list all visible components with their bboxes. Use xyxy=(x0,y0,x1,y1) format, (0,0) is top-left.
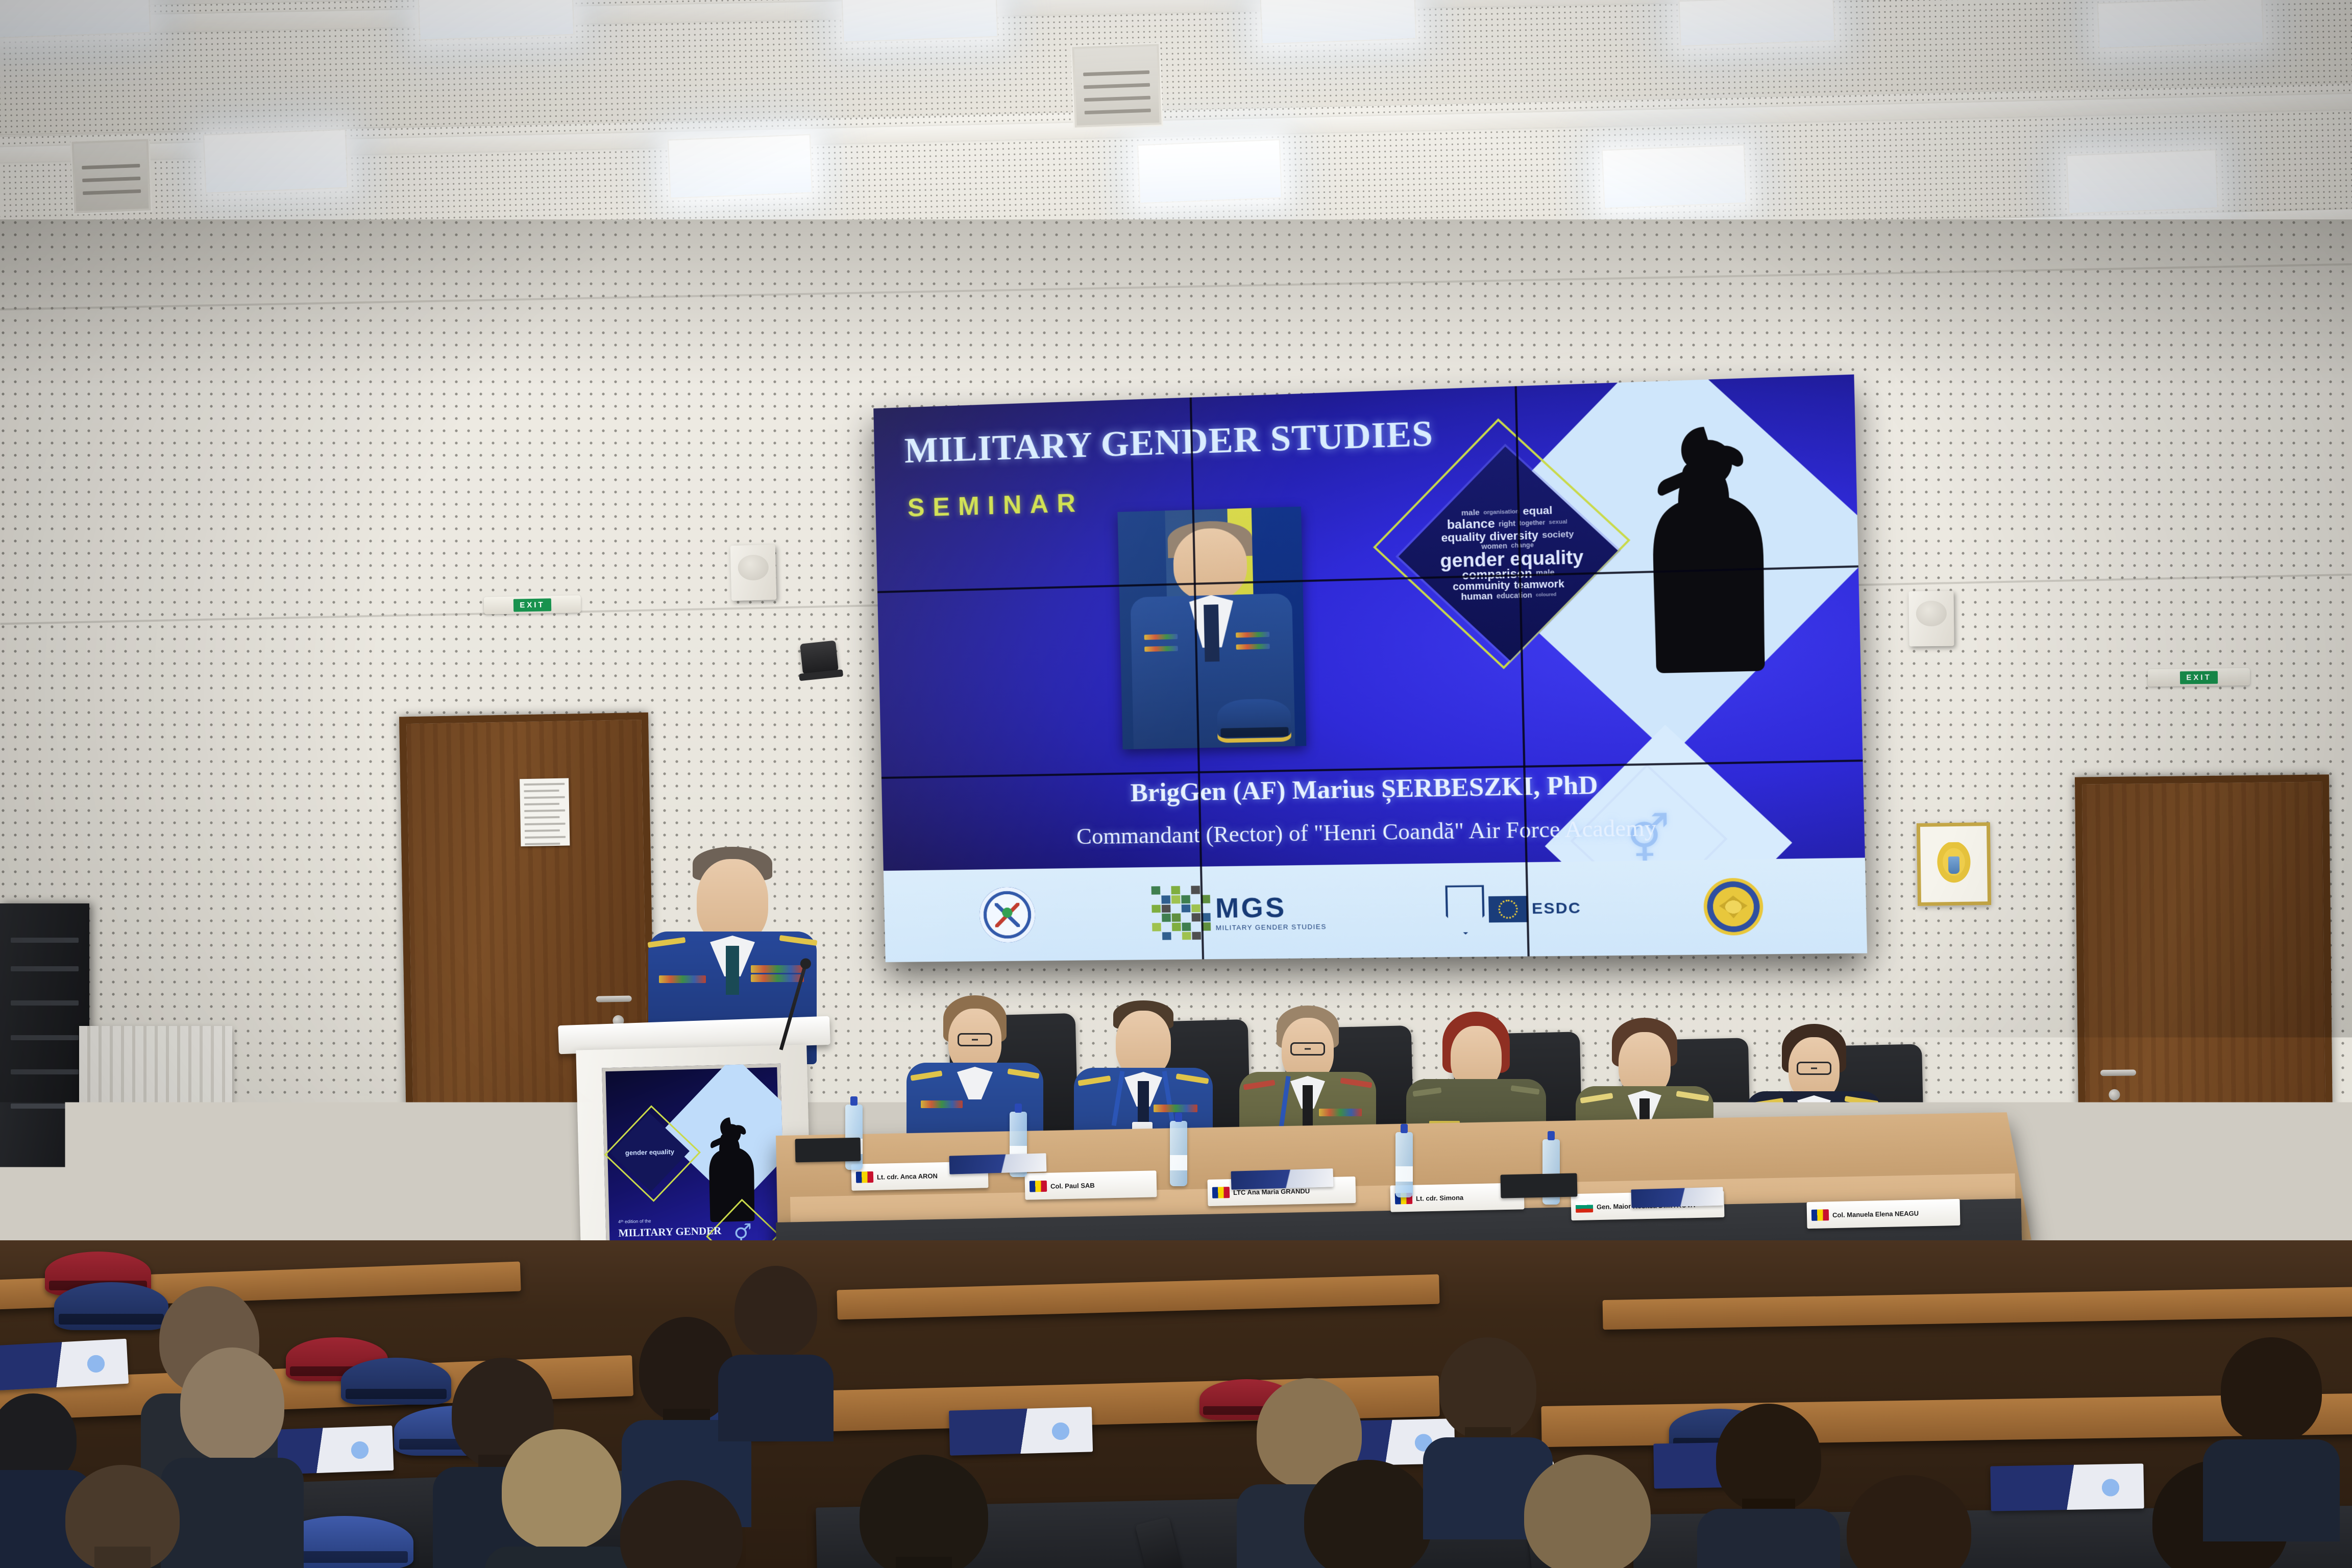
ceiling-light xyxy=(418,0,575,40)
wall-top-shadow xyxy=(0,219,2352,388)
audience-member xyxy=(2210,1337,2333,1521)
word-cloud-word: coloured xyxy=(1536,592,1556,597)
name-placard: Col. Paul SAB xyxy=(1024,1170,1157,1199)
ceiling-light xyxy=(668,134,813,199)
romanian-coat-of-arms-icon xyxy=(1934,842,1974,887)
word-cloud-word: sexual xyxy=(1549,519,1567,525)
placard-name: Lt. cdr. Simona xyxy=(1416,1193,1463,1202)
placard-name: Col. Manuela Elena NEAGU xyxy=(1832,1209,1919,1219)
door-handle-left[interactable] xyxy=(596,995,632,1002)
program-booklet xyxy=(949,1153,1047,1174)
hvac-vent xyxy=(70,137,152,215)
audience-member xyxy=(607,1480,755,1568)
folder xyxy=(795,1138,861,1163)
radiator xyxy=(79,1026,232,1136)
audience-member xyxy=(725,1266,827,1419)
word-cloud-word: right xyxy=(1499,520,1515,527)
portrait-head xyxy=(1173,527,1248,601)
word-cloud-word: diversity xyxy=(1489,530,1538,542)
word-cloud-word: male xyxy=(1461,509,1480,517)
ceiling-light xyxy=(0,0,151,38)
eu-flag-icon xyxy=(1488,896,1528,923)
exit-sign-label: EXIT xyxy=(513,598,551,611)
speaker-portrait xyxy=(1118,506,1307,749)
lectern-edition-label: 4ᵗʰ edition of the xyxy=(618,1218,651,1224)
audience-member xyxy=(1291,1460,1444,1568)
folder xyxy=(1746,1191,1818,1216)
door-notice xyxy=(520,778,570,847)
audience-member xyxy=(1832,1475,1986,1568)
ceiling-light xyxy=(2066,149,2218,214)
word-cloud-word: community xyxy=(1453,580,1510,592)
mgs-logo: MGS MILITARY GENDER STUDIES xyxy=(1151,885,1327,941)
water-bottle xyxy=(1907,1163,1924,1228)
exit-sign-right: EXIT xyxy=(2148,668,2250,687)
word-cloud-word: balance xyxy=(1447,518,1495,531)
seminar-photo-scene: EXIT EXIT male organisation equal balanc… xyxy=(0,0,2352,1568)
ceiling-light xyxy=(1260,0,1417,44)
ceiling-light xyxy=(842,0,998,42)
hvac-vent xyxy=(1070,42,1163,129)
door-lock-right[interactable] xyxy=(2109,1089,2120,1100)
program-booklet xyxy=(1231,1168,1334,1190)
placard-name: Col. Paul SAB xyxy=(1050,1181,1095,1190)
word-cloud-main: gender equality xyxy=(1440,548,1576,569)
word-cloud-word: education xyxy=(1497,592,1532,599)
ceiling-light xyxy=(2097,0,2264,49)
door-right[interactable] xyxy=(2075,774,2334,1271)
word-cloud-word: equality xyxy=(1441,531,1486,543)
word-cloud-word: women xyxy=(1481,542,1507,550)
romania-flag-icon xyxy=(1030,1181,1047,1192)
mgs-sublabel: MILITARY GENDER STUDIES xyxy=(1216,923,1327,932)
presentation-slide: male organisation equal balance right to… xyxy=(873,375,1867,962)
audience-member xyxy=(1705,1404,1832,1568)
ceiling-spotlight xyxy=(800,641,839,675)
folder xyxy=(1501,1173,1578,1198)
program-booklet xyxy=(1990,1463,2144,1511)
placard-name: Lt. cdr. Anca ARON xyxy=(877,1172,938,1181)
romania-flag-icon xyxy=(856,1171,873,1183)
audience-member xyxy=(847,1455,1000,1568)
audience-desk xyxy=(1603,1287,2352,1330)
ceiling-light xyxy=(1679,0,1835,46)
slide-logo-bar: MGS MILITARY GENDER STUDIES ESDC xyxy=(884,857,1867,962)
air-force-academy-seal xyxy=(979,887,1036,943)
audience-area xyxy=(0,1240,2352,1568)
wall-speaker-left xyxy=(730,545,777,601)
slide-title: MILITARY GENDER STUDIES xyxy=(904,413,1434,472)
esdc-shield-icon xyxy=(1445,885,1485,935)
portrait-tie xyxy=(1204,604,1220,662)
program-booklet xyxy=(1631,1187,1724,1208)
esdc-logo: ESDC xyxy=(1445,884,1582,935)
water-bottle xyxy=(1395,1132,1413,1197)
audience-member xyxy=(51,1465,194,1568)
audience-desk xyxy=(837,1275,1439,1320)
exit-sign-left: EXIT xyxy=(484,595,581,614)
lectern-title-line1: MILITARY GENDER xyxy=(618,1224,721,1239)
exit-sign-label: EXIT xyxy=(2180,671,2218,684)
service-cap-blue xyxy=(341,1358,451,1405)
word-cloud-word: society xyxy=(1542,530,1574,539)
bulgaria-flag-icon xyxy=(1576,1201,1593,1213)
program-booklet xyxy=(0,1339,129,1391)
slide-subtitle: SEMINAR xyxy=(907,488,1084,523)
ceiling-light xyxy=(1602,144,1747,209)
program-booklet xyxy=(949,1407,1093,1455)
ceiling-light xyxy=(203,129,348,194)
water-bottle xyxy=(1170,1121,1187,1186)
word-cloud-word: human xyxy=(1461,592,1492,601)
framed-certificate xyxy=(1917,822,1991,906)
word-cloud-word: equal xyxy=(1523,505,1553,517)
milva-seal xyxy=(1703,878,1764,936)
romania-flag-icon xyxy=(1212,1187,1230,1198)
wall-speaker-right xyxy=(1908,591,1954,647)
esdc-label: ESDC xyxy=(1532,900,1582,918)
mgs-label: MGS xyxy=(1215,893,1327,922)
ceiling-light xyxy=(1137,139,1282,204)
equipment-rack xyxy=(0,903,89,1189)
word-cloud-word: together xyxy=(1519,520,1545,526)
video-wall-display: male organisation equal balance right to… xyxy=(873,375,1867,962)
portrait-service-cap xyxy=(1217,698,1291,743)
audience-member xyxy=(1511,1455,1664,1568)
door-handle-right[interactable] xyxy=(2100,1069,2136,1076)
name-placard: Col. Manuela Elena NEAGU xyxy=(1806,1199,1960,1229)
word-cloud-word: organisation xyxy=(1483,509,1519,515)
lectern-word-cloud: gender equality xyxy=(625,1147,674,1156)
word-cloud-word: change xyxy=(1511,542,1534,549)
